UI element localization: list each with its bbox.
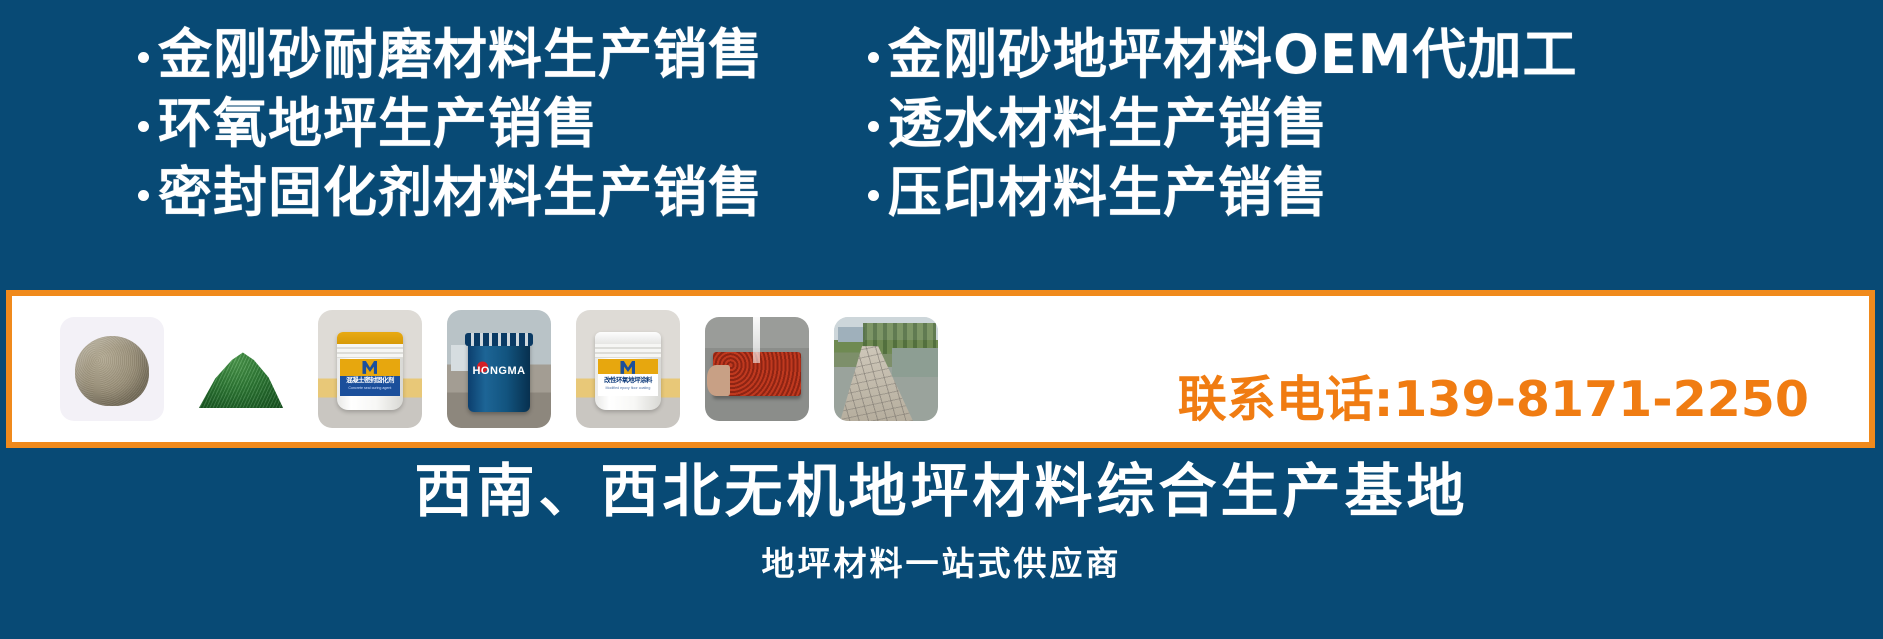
bucket-label-en: Concrete seal curing agent <box>348 385 391 390</box>
pond-area <box>892 348 938 377</box>
product-thumb-concrete-seal-curing-agent: 混凝土密封固化剂 Concrete seal curing agent <box>318 310 422 428</box>
hongma-brand-text: HONGMA <box>472 365 525 377</box>
promotional-banner: 金刚砂耐磨材料生产销售 环氧地坪生产销售 密封固化剂材料生产销售 金刚砂地坪材料… <box>0 0 1883 639</box>
service-item: 压印材料生产销售 <box>868 166 1638 220</box>
bullet-dot-icon <box>138 121 149 132</box>
product-thumb-hongma-drum: HONGMA <box>447 310 551 428</box>
bullet-dot-icon <box>868 121 879 132</box>
paint-bucket-shape: 改性环氧地坪涂料 Modified epoxy floor coating <box>595 332 661 410</box>
product-thumb-modified-epoxy-floor-coating: 改性环氧地坪涂料 Modified epoxy floor coating <box>576 310 680 428</box>
service-label: 压印材料生产销售 <box>888 166 1328 220</box>
brand-m-logo-icon <box>362 361 377 374</box>
service-item: 密封固化剂材料生产销售 <box>138 166 868 220</box>
bucket-lid <box>337 332 403 344</box>
service-label: 环氧地坪生产销售 <box>158 97 598 151</box>
footer-subheadline: 地坪材料一站式供应商 <box>0 545 1883 583</box>
bullet-dot-icon <box>138 52 149 63</box>
service-label: 密封固化剂材料生产销售 <box>158 166 763 220</box>
footer-headline: 西南、西北无机地坪材料综合生产基地 <box>0 460 1883 522</box>
bullet-dot-icon <box>868 190 879 201</box>
bucket-lid <box>595 332 661 344</box>
product-thumb-green-abrasive-powder <box>189 317 293 421</box>
service-item: 环氧地坪生产销售 <box>138 97 868 151</box>
bullet-dot-icon <box>868 52 879 63</box>
bucket-label: 混凝土密封固化剂 Concrete seal curing agent <box>340 359 401 396</box>
services-right-column: 金刚砂地坪材料OEM代加工 透水材料生产销售 压印材料生产销售 <box>868 28 1638 243</box>
services-section: 金刚砂耐磨材料生产销售 环氧地坪生产销售 密封固化剂材料生产销售 金刚砂地坪材料… <box>0 28 1883 243</box>
bucket-label-cn: 改性环氧地坪涂料 <box>604 375 652 384</box>
water-stream-shape <box>753 317 760 363</box>
drum-rim <box>465 333 533 346</box>
product-thumb-red-permeable-slab <box>705 317 809 421</box>
product-thumb-stamped-concrete-walkway <box>834 317 938 421</box>
bucket-rings <box>337 344 403 358</box>
bullet-dot-icon <box>138 190 149 201</box>
service-label: 透水材料生产销售 <box>888 97 1328 151</box>
grey-powder-pile-shape <box>75 336 149 406</box>
service-label: 金刚砂耐磨材料生产销售 <box>158 28 763 82</box>
product-strip: 混凝土密封固化剂 Concrete seal curing agent HONG… <box>6 290 1875 448</box>
bucket-label-en: Modified epoxy floor coating <box>606 385 651 390</box>
product-thumbnail-list: 混凝土密封固化剂 Concrete seal curing agent HONG… <box>60 296 963 442</box>
bucket-rings <box>595 344 661 358</box>
paint-bucket-shape: 混凝土密封固化剂 Concrete seal curing agent <box>337 332 403 410</box>
steel-drum-shape: HONGMA <box>468 336 530 412</box>
hand-shape <box>707 365 730 396</box>
background-building <box>838 327 865 342</box>
service-item: 金刚砂耐磨材料生产销售 <box>138 28 868 82</box>
contact-phone[interactable]: 联系电话:139-8171-2250 <box>1178 374 1809 426</box>
bucket-label: 改性环氧地坪涂料 Modified epoxy floor coating <box>598 359 659 396</box>
service-label: 金刚砂地坪材料OEM代加工 <box>888 28 1578 82</box>
services-left-column: 金刚砂耐磨材料生产销售 环氧地坪生产销售 密封固化剂材料生产销售 <box>138 28 868 243</box>
service-item: 透水材料生产销售 <box>868 97 1638 151</box>
bucket-label-cn: 混凝土密封固化剂 <box>346 375 394 384</box>
service-item: 金刚砂地坪材料OEM代加工 <box>868 28 1638 82</box>
product-thumb-grey-abrasive-powder <box>60 317 164 421</box>
brand-m-logo-icon <box>620 361 635 374</box>
thumb-background <box>834 317 938 421</box>
